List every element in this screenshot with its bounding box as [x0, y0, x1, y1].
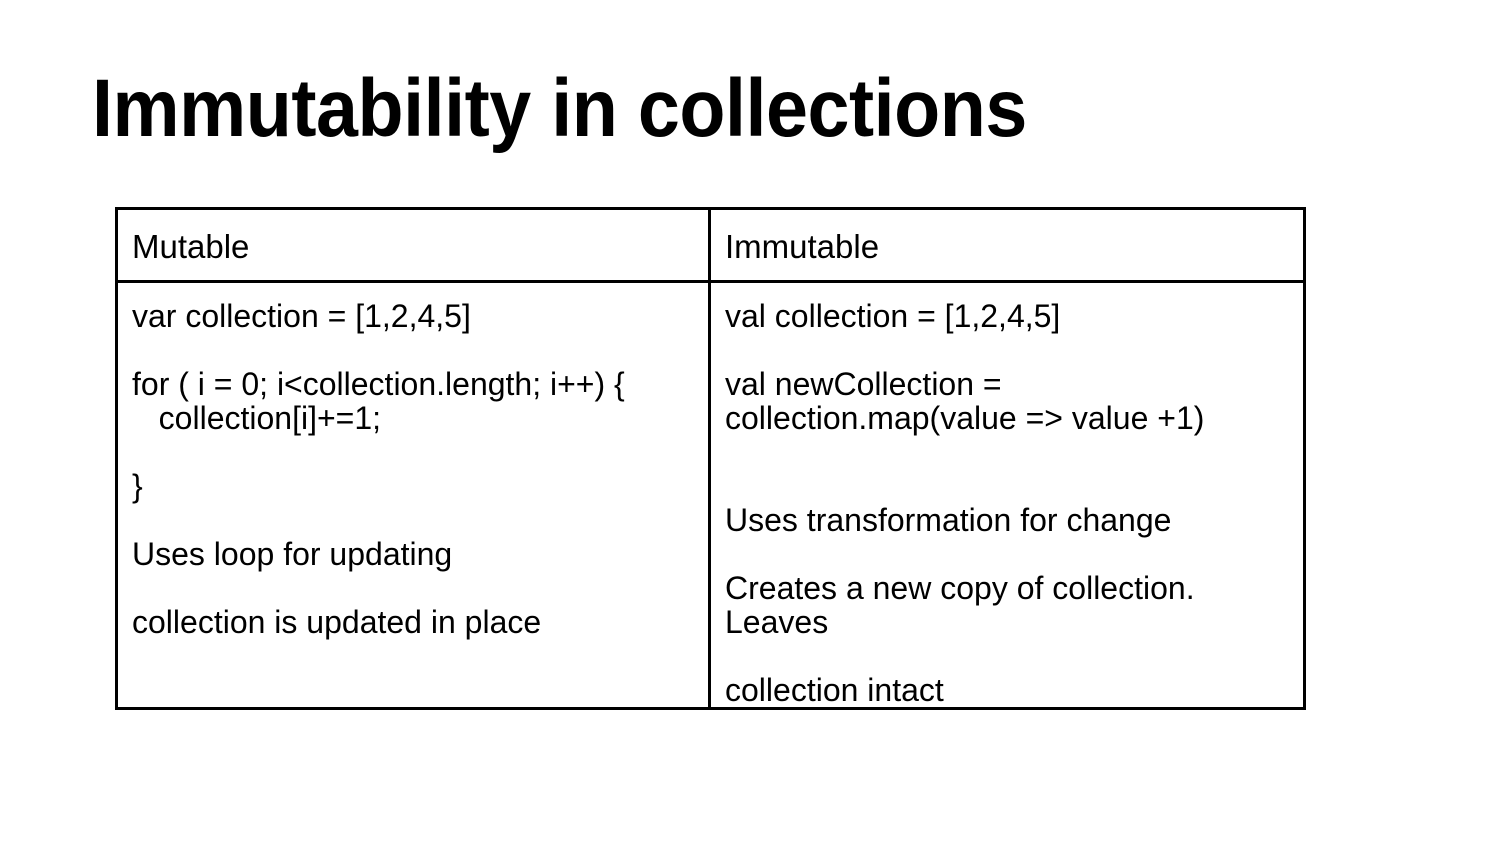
immutable-line-7 [725, 537, 1289, 571]
mutable-line-1: var collection = [1,2,4,5] [132, 299, 694, 333]
immutable-line-3: val newCollection = collection.map(value… [725, 367, 1289, 435]
immutable-content: val collection = [1,2,4,5] val newCollec… [711, 283, 1303, 707]
immutable-line-9 [725, 639, 1289, 673]
mutable-line-3: for ( i = 0; i<collection.length; i++) { [132, 367, 694, 401]
immutable-line-6: Uses transformation for change [725, 503, 1289, 537]
table-cell-header-mutable: Mutable [117, 209, 710, 282]
mutable-content: var collection = [1,2,4,5] for ( i = 0; … [118, 283, 708, 639]
table-header-row: Mutable Immutable [117, 209, 1305, 282]
mutable-immutable-comparison-table: Mutable Immutable var collection = [1,2,… [115, 207, 1306, 710]
immutable-line-5 [725, 469, 1289, 503]
immutable-line-4 [725, 435, 1289, 469]
mutable-line-6: } [132, 469, 694, 503]
column-header-immutable: Immutable [711, 210, 1303, 263]
immutable-line-8: Creates a new copy of collection. Leaves [725, 571, 1289, 639]
slide-canvas: { "slide": { "title": "Immutability in c… [0, 0, 1500, 844]
table-body-row: var collection = [1,2,4,5] for ( i = 0; … [117, 282, 1305, 709]
table-cell-body-immutable: val collection = [1,2,4,5] val newCollec… [710, 282, 1305, 709]
table-cell-header-immutable: Immutable [710, 209, 1305, 282]
mutable-line-2 [132, 333, 694, 367]
table-cell-body-mutable: var collection = [1,2,4,5] for ( i = 0; … [117, 282, 710, 709]
mutable-line-7 [132, 503, 694, 537]
mutable-line-8: Uses loop for updating [132, 537, 694, 571]
mutable-line-4: collection[i]+=1; [132, 401, 694, 435]
mutable-line-10: collection is updated in place [132, 605, 694, 639]
immutable-line-2 [725, 333, 1289, 367]
immutable-line-1: val collection = [1,2,4,5] [725, 299, 1289, 333]
slide-title: Immutability in collections [92, 68, 1027, 150]
mutable-line-5 [132, 435, 694, 469]
mutable-line-9 [132, 571, 694, 605]
column-header-mutable: Mutable [118, 210, 708, 263]
immutable-line-10: collection intact [725, 673, 1289, 707]
